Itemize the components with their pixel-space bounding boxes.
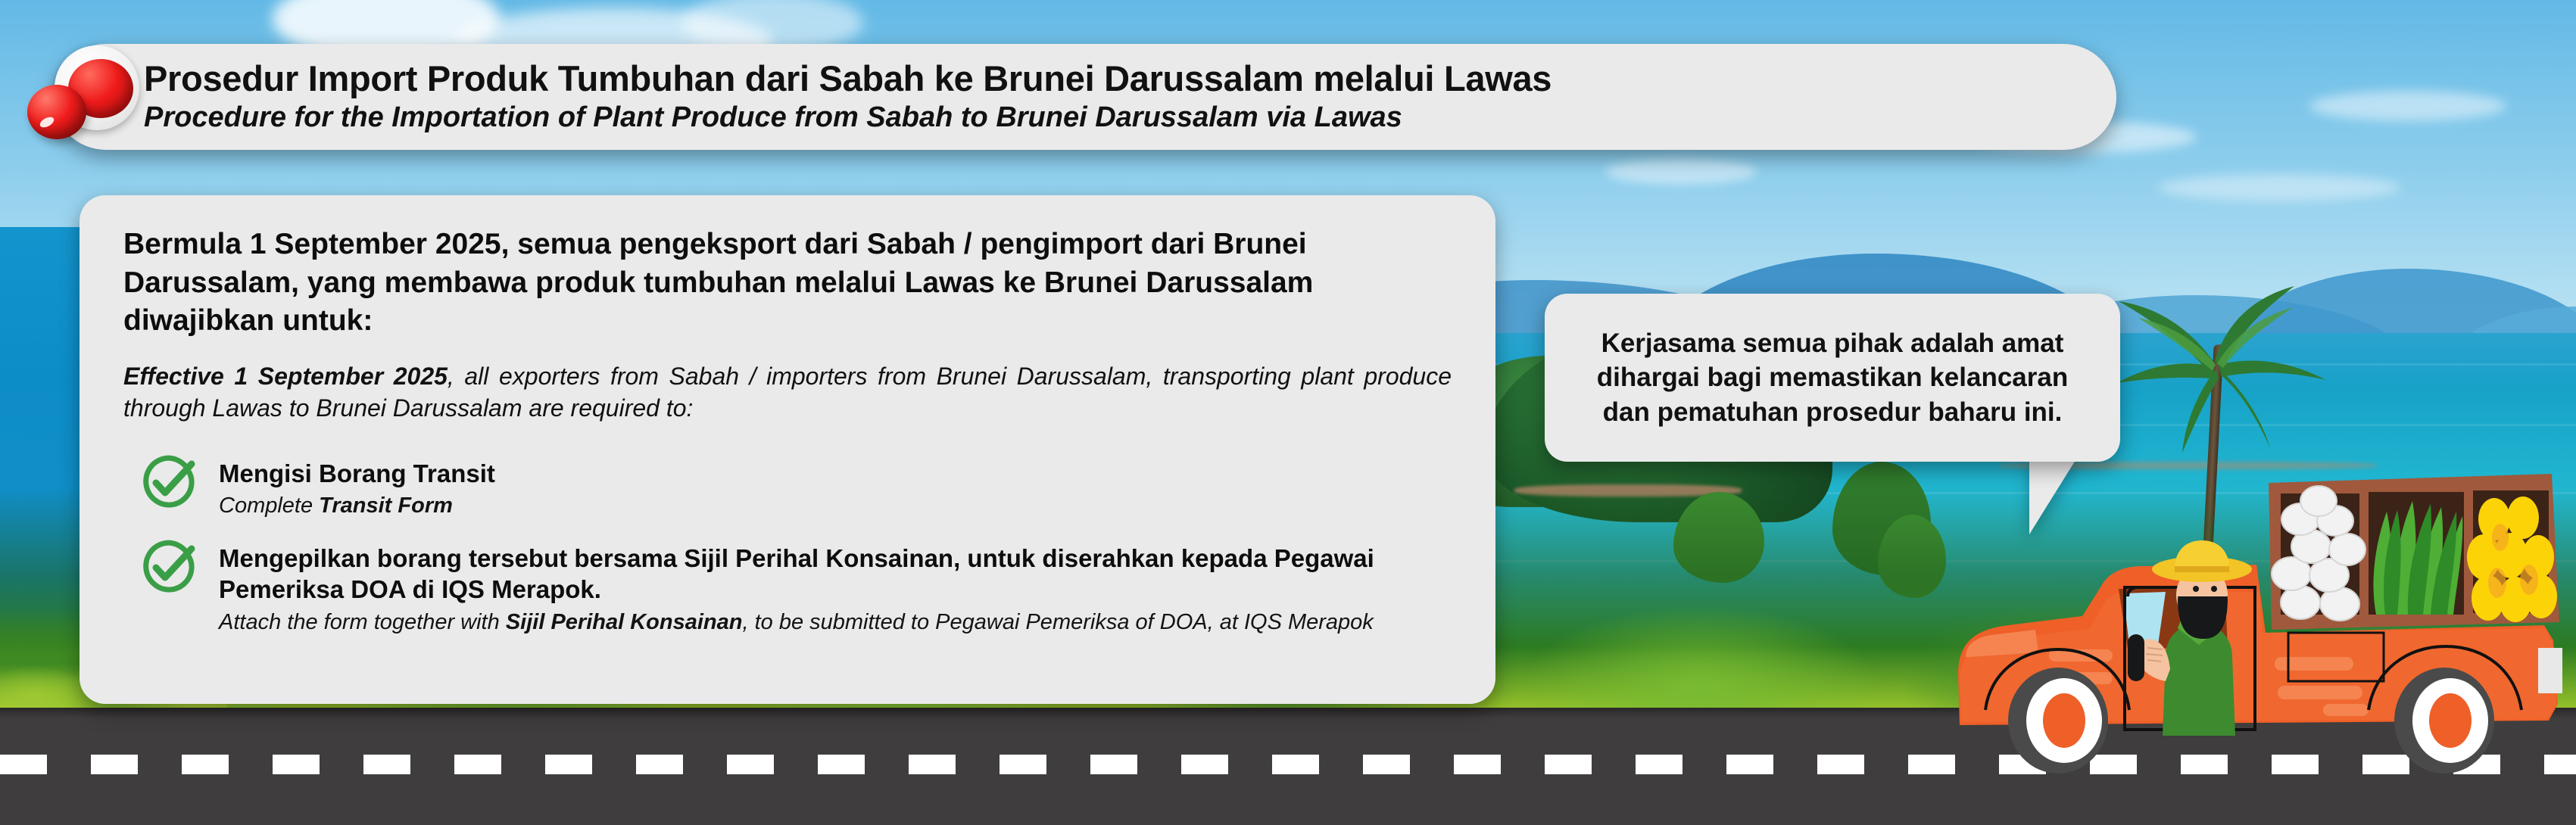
list-item-malay: Mengepilkan borang tersebut bersama Siji… [219, 543, 1452, 606]
produce-crate [2269, 474, 2559, 630]
list-item-text: Mengisi Borang Transit Complete Transit … [219, 453, 1452, 520]
speech-bubble-text: Kerjasama semua pihak adalah amat diharg… [1570, 326, 2094, 430]
intro-paragraph-malay: Bermula 1 September 2025, semua pengeksp… [123, 226, 1452, 341]
list-item-english-bold: Transit Form [319, 493, 453, 518]
speech-bubble: Kerjasama semua pihak adalah amat diharg… [1545, 294, 2120, 462]
list-item-english: Attach the form together with Sijil Peri… [219, 609, 1452, 637]
list-item-english-prefix: Attach the form together with [219, 610, 506, 634]
green-check-circle-icon [142, 540, 198, 596]
green-check-circle-icon [142, 455, 198, 511]
page-title-english: Procedure for the Importation of Plant P… [144, 101, 2116, 135]
list-item-text: Mengepilkan borang tersebut bersama Siji… [219, 538, 1452, 637]
title-banner: Prosedur Import Produk Tumbuhan dari Sab… [53, 44, 2116, 150]
procedure-body-card: Bermula 1 September 2025, semua pengeksp… [80, 195, 1495, 704]
pickup-truck-illustration [1938, 454, 2576, 780]
cloud [2309, 91, 2506, 121]
list-item-english-suffix: , to be submitted to Pegawai Pemeriksa o… [742, 610, 1373, 634]
cloud [2158, 174, 2400, 201]
list-item: Mengisi Borang Transit Complete Transit … [123, 453, 1452, 520]
list-item-english: Complete Transit Form [219, 492, 1452, 520]
red-pushpin-icon [11, 29, 139, 150]
requirements-list: Mengisi Borang Transit Complete Transit … [123, 453, 1452, 637]
page-title-malay: Prosedur Import Produk Tumbuhan dari Sab… [144, 59, 2116, 99]
list-item: Mengepilkan borang tersebut bersama Siji… [123, 538, 1452, 637]
cloud [1605, 159, 1757, 185]
list-item-english-bold: Sijil Perihal Konsainan [506, 610, 743, 634]
intro-english-effective-date: Effective 1 September 2025 [123, 363, 448, 390]
list-item-english-prefix: Complete [219, 493, 319, 518]
infographic-poster: Prosedur Import Produk Tumbuhan dari Sab… [0, 0, 2576, 825]
list-item-malay: Mengisi Borang Transit [219, 458, 1452, 490]
intro-paragraph-english: Effective 1 September 2025, all exporter… [123, 360, 1452, 424]
